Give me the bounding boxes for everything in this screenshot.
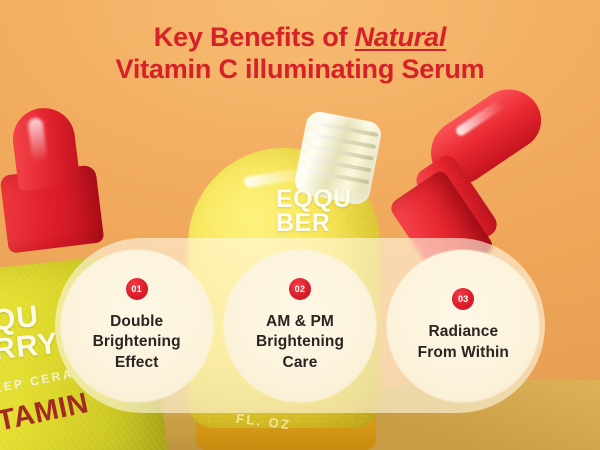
promo-banner: EQQU BER FL. OZ EQQU BERRY DEEP CERA VIT… — [0, 0, 600, 450]
benefit-card-01[interactable]: 01 Double Brightening Effect — [61, 250, 213, 402]
middle-bottle-brand-label: EQQU BER — [276, 188, 386, 235]
title-prefix: Key Benefits of — [154, 22, 355, 52]
left-bottle-brand-label: EQQU BERRY — [0, 300, 60, 370]
benefit-text-01: Double Brightening Effect — [93, 312, 181, 374]
benefit-badge-02: 02 — [289, 278, 311, 300]
benefit-text-02: AM & PM Brightening Care — [256, 312, 344, 374]
title-line-1: Key Benefits of Natural — [0, 22, 600, 54]
title-line-2: Vitamin C illuminating Serum — [0, 54, 600, 86]
benefit-card-03[interactable]: 03 Radiance From Within — [387, 250, 539, 402]
benefit-badge-01: 01 — [126, 278, 148, 300]
benefit-badge-03: 03 — [452, 288, 474, 310]
benefit-card-02[interactable]: 02 AM & PM Brightening Care — [224, 250, 376, 402]
benefits-card-list: 01 Double Brightening Effect 02 AM & PM … — [55, 238, 545, 413]
page-title: Key Benefits of Natural Vitamin C illumi… — [0, 22, 600, 86]
title-emphasis: Natural — [355, 22, 447, 52]
benefit-text-03: Radiance From Within — [418, 322, 509, 363]
